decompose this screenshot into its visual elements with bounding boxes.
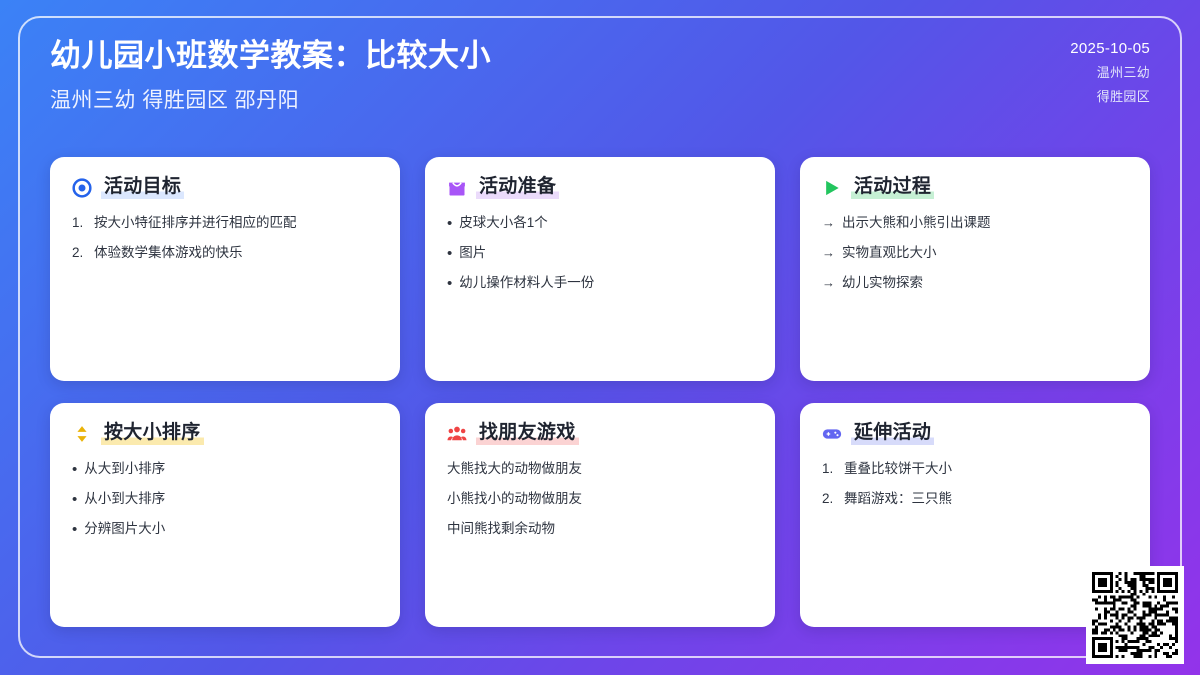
- list-item-text: 幼儿操作材料人手一份: [459, 274, 594, 292]
- list-item-text: 小熊找小的动物做朋友: [447, 490, 582, 508]
- list-item: •从大到小排序: [72, 460, 378, 478]
- people-icon: [447, 424, 467, 444]
- list-item-text: 皮球大小各1个: [459, 214, 548, 232]
- card-header: 延伸活动: [822, 423, 1128, 445]
- list-marker: 1.: [822, 460, 837, 478]
- card-item-list: 1.重叠比较饼干大小2.舞蹈游戏：三只熊: [822, 460, 1128, 508]
- title-block: 幼儿园小班数学教案：比较大小 温州三幼 得胜园区 邵丹阳: [50, 38, 491, 114]
- list-marker: 1.: [72, 214, 87, 232]
- list-item-text: 幼儿实物探索: [842, 274, 923, 292]
- card-sort-by-size[interactable]: 按大小排序•从大到小排序•从小到大排序•分辨图片大小: [50, 403, 400, 627]
- card-title: 找朋友游戏: [476, 423, 579, 445]
- list-item-text: 图片: [459, 244, 486, 262]
- list-marker: •: [72, 462, 77, 477]
- list-item: 小熊找小的动物做朋友: [447, 490, 753, 508]
- card-grid: 活动目标1.按大小特征排序并进行相应的匹配2.体验数学集体游戏的快乐活动准备•皮…: [50, 157, 1150, 627]
- page-subtitle: 温州三幼 得胜园区 邵丹阳: [50, 84, 491, 114]
- list-marker: →: [822, 274, 835, 292]
- list-marker: •: [447, 216, 452, 231]
- org-campus-label: 得胜园区: [1097, 86, 1150, 105]
- list-item: •分辨图片大小: [72, 520, 378, 538]
- list-item: →出示大熊和小熊引出课题: [822, 214, 1128, 232]
- list-marker: •: [447, 276, 452, 291]
- list-item-text: 出示大熊和小熊引出课题: [842, 214, 991, 232]
- qr-code[interactable]: [1086, 566, 1184, 664]
- list-item: •幼儿操作材料人手一份: [447, 274, 753, 292]
- list-marker: →: [822, 214, 835, 232]
- card-activity-goals[interactable]: 活动目标1.按大小特征排序并进行相应的匹配2.体验数学集体游戏的快乐: [50, 157, 400, 381]
- card-title: 延伸活动: [851, 423, 934, 445]
- list-marker: •: [72, 522, 77, 537]
- card-activity-process[interactable]: 活动过程→出示大熊和小熊引出课题→实物直观比大小→幼儿实物探索: [800, 157, 1150, 381]
- box-icon: [447, 178, 467, 198]
- card-title: 活动目标: [101, 177, 184, 199]
- list-item-text: 从小到大排序: [84, 490, 165, 508]
- card-find-friends-game[interactable]: 找朋友游戏大熊找大的动物做朋友小熊找小的动物做朋友中间熊找剩余动物: [425, 403, 775, 627]
- card-activity-preparation[interactable]: 活动准备•皮球大小各1个•图片•幼儿操作材料人手一份: [425, 157, 775, 381]
- list-item: 2.体验数学集体游戏的快乐: [72, 244, 378, 262]
- list-item-text: 实物直观比大小: [842, 244, 937, 262]
- sort-updown-icon: [72, 424, 92, 444]
- list-item-text: 按大小特征排序并进行相应的匹配: [94, 214, 297, 232]
- list-marker: •: [72, 492, 77, 507]
- card-item-list: 1.按大小特征排序并进行相应的匹配2.体验数学集体游戏的快乐: [72, 214, 378, 262]
- card-header: 按大小排序: [72, 423, 378, 445]
- card-item-list: 大熊找大的动物做朋友小熊找小的动物做朋友中间熊找剩余动物: [447, 460, 753, 539]
- qr-code-image: [1092, 572, 1178, 658]
- slide-header: 幼儿园小班数学教案：比较大小 温州三幼 得胜园区 邵丹阳 2025-10-05 …: [50, 38, 1150, 114]
- list-item: 1.重叠比较饼干大小: [822, 460, 1128, 478]
- list-item: 大熊找大的动物做朋友: [447, 460, 753, 478]
- gamepad-icon: [822, 424, 842, 444]
- card-header: 活动过程: [822, 177, 1128, 199]
- card-header: 活动目标: [72, 177, 378, 199]
- list-item: 中间熊找剩余动物: [447, 520, 753, 538]
- card-header: 找朋友游戏: [447, 423, 753, 445]
- list-item: →幼儿实物探索: [822, 274, 1128, 292]
- list-item-text: 舞蹈游戏：三只熊: [844, 490, 952, 508]
- card-item-list: →出示大熊和小熊引出课题→实物直观比大小→幼儿实物探索: [822, 214, 1128, 293]
- list-marker: →: [822, 244, 835, 262]
- list-item: →实物直观比大小: [822, 244, 1128, 262]
- play-icon: [822, 178, 842, 198]
- list-item: •图片: [447, 244, 753, 262]
- list-item-text: 大熊找大的动物做朋友: [447, 460, 582, 478]
- meta-block: 2025-10-05 温州三幼 得胜园区: [1070, 38, 1150, 105]
- list-marker: 2.: [72, 244, 87, 262]
- card-header: 活动准备: [447, 177, 753, 199]
- card-title: 活动准备: [476, 177, 559, 199]
- list-item-text: 从大到小排序: [84, 460, 165, 478]
- list-item: •从小到大排序: [72, 490, 378, 508]
- org-name-label: 温州三幼: [1097, 62, 1150, 81]
- date-label: 2025-10-05: [1070, 40, 1150, 57]
- list-item-text: 中间熊找剩余动物: [447, 520, 555, 538]
- card-title: 活动过程: [851, 177, 934, 199]
- list-marker: 2.: [822, 490, 837, 508]
- list-marker: •: [447, 246, 452, 261]
- card-item-list: •皮球大小各1个•图片•幼儿操作材料人手一份: [447, 214, 753, 293]
- card-item-list: •从大到小排序•从小到大排序•分辨图片大小: [72, 460, 378, 539]
- list-item: 1.按大小特征排序并进行相应的匹配: [72, 214, 378, 232]
- page-title: 幼儿园小班数学教案：比较大小: [50, 38, 491, 74]
- target-icon: [72, 178, 92, 198]
- list-item: •皮球大小各1个: [447, 214, 753, 232]
- list-item-text: 体验数学集体游戏的快乐: [94, 244, 243, 262]
- list-item-text: 分辨图片大小: [84, 520, 165, 538]
- list-item-text: 重叠比较饼干大小: [844, 460, 952, 478]
- list-item: 2.舞蹈游戏：三只熊: [822, 490, 1128, 508]
- card-title: 按大小排序: [101, 423, 204, 445]
